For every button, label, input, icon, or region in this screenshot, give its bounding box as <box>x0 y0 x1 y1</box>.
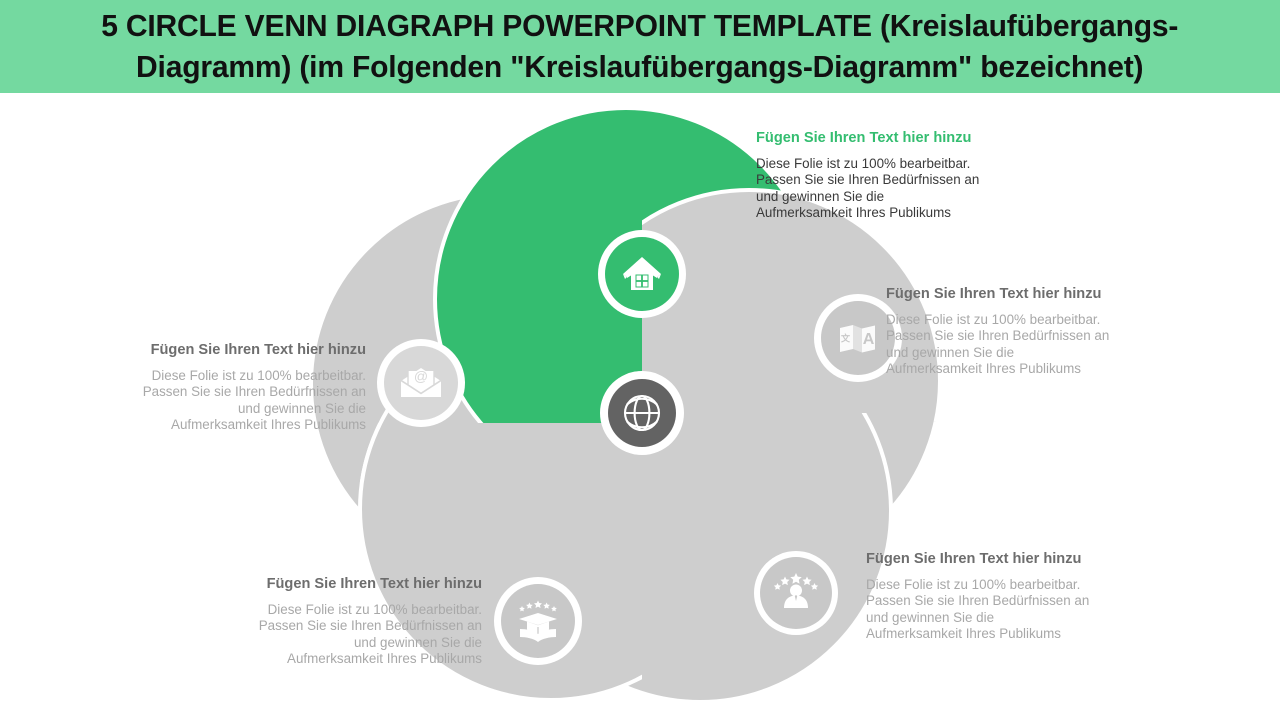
segment-body-bottom-right: Diese Folie ist zu 100% bearbeitbar. Pas… <box>866 577 1131 643</box>
segment-body-left: Diese Folie ist zu 100% bearbeitbar. Pas… <box>118 368 366 434</box>
segment-text-right: Fügen Sie Ihren Text hier hinzu Diese Fo… <box>886 285 1146 378</box>
venn-node-bottom-right[interactable] <box>754 551 838 635</box>
header-banner: 5 CIRCLE VENN DIAGRAPH POWERPOINT TEMPLA… <box>0 0 1280 93</box>
segment-text-bottom-left: Fügen Sie Ihren Text hier hinzu Diese Fo… <box>232 575 482 668</box>
segment-text-top: Fügen Sie Ihren Text hier hinzu Diese Fo… <box>756 129 1056 222</box>
venn-diagram: 文 A <box>0 93 1280 720</box>
segment-title-left: Fügen Sie Ihren Text hier hinzu <box>118 341 366 359</box>
segment-text-left: Fügen Sie Ihren Text hier hinzu Diese Fo… <box>118 341 366 434</box>
svg-text:A: A <box>863 331 875 348</box>
segment-title-right: Fügen Sie Ihren Text hier hinzu <box>886 285 1146 303</box>
venn-node-left[interactable]: @ <box>377 339 465 427</box>
segment-title-bottom-left: Fügen Sie Ihren Text hier hinzu <box>232 575 482 593</box>
segment-title-top: Fügen Sie Ihren Text hier hinzu <box>756 129 1056 147</box>
segment-body-top: Diese Folie ist zu 100% bearbeitbar. Pas… <box>756 156 1056 222</box>
venn-node-bottom-left[interactable] <box>494 577 582 665</box>
segment-title-bottom-right: Fügen Sie Ihren Text hier hinzu <box>866 550 1131 568</box>
segment-body-right: Diese Folie ist zu 100% bearbeitbar. Pas… <box>886 312 1146 378</box>
segment-text-bottom-right: Fügen Sie Ihren Text hier hinzu Diese Fo… <box>866 550 1131 643</box>
venn-node-top[interactable] <box>598 230 686 318</box>
svg-text:文: 文 <box>840 333 851 344</box>
page-title: 5 CIRCLE VENN DIAGRAPH POWERPOINT TEMPLA… <box>101 6 1178 88</box>
segment-body-bottom-left: Diese Folie ist zu 100% bearbeitbar. Pas… <box>232 602 482 668</box>
svg-text:@: @ <box>414 368 428 384</box>
translate-icon: 文 A <box>840 325 875 353</box>
